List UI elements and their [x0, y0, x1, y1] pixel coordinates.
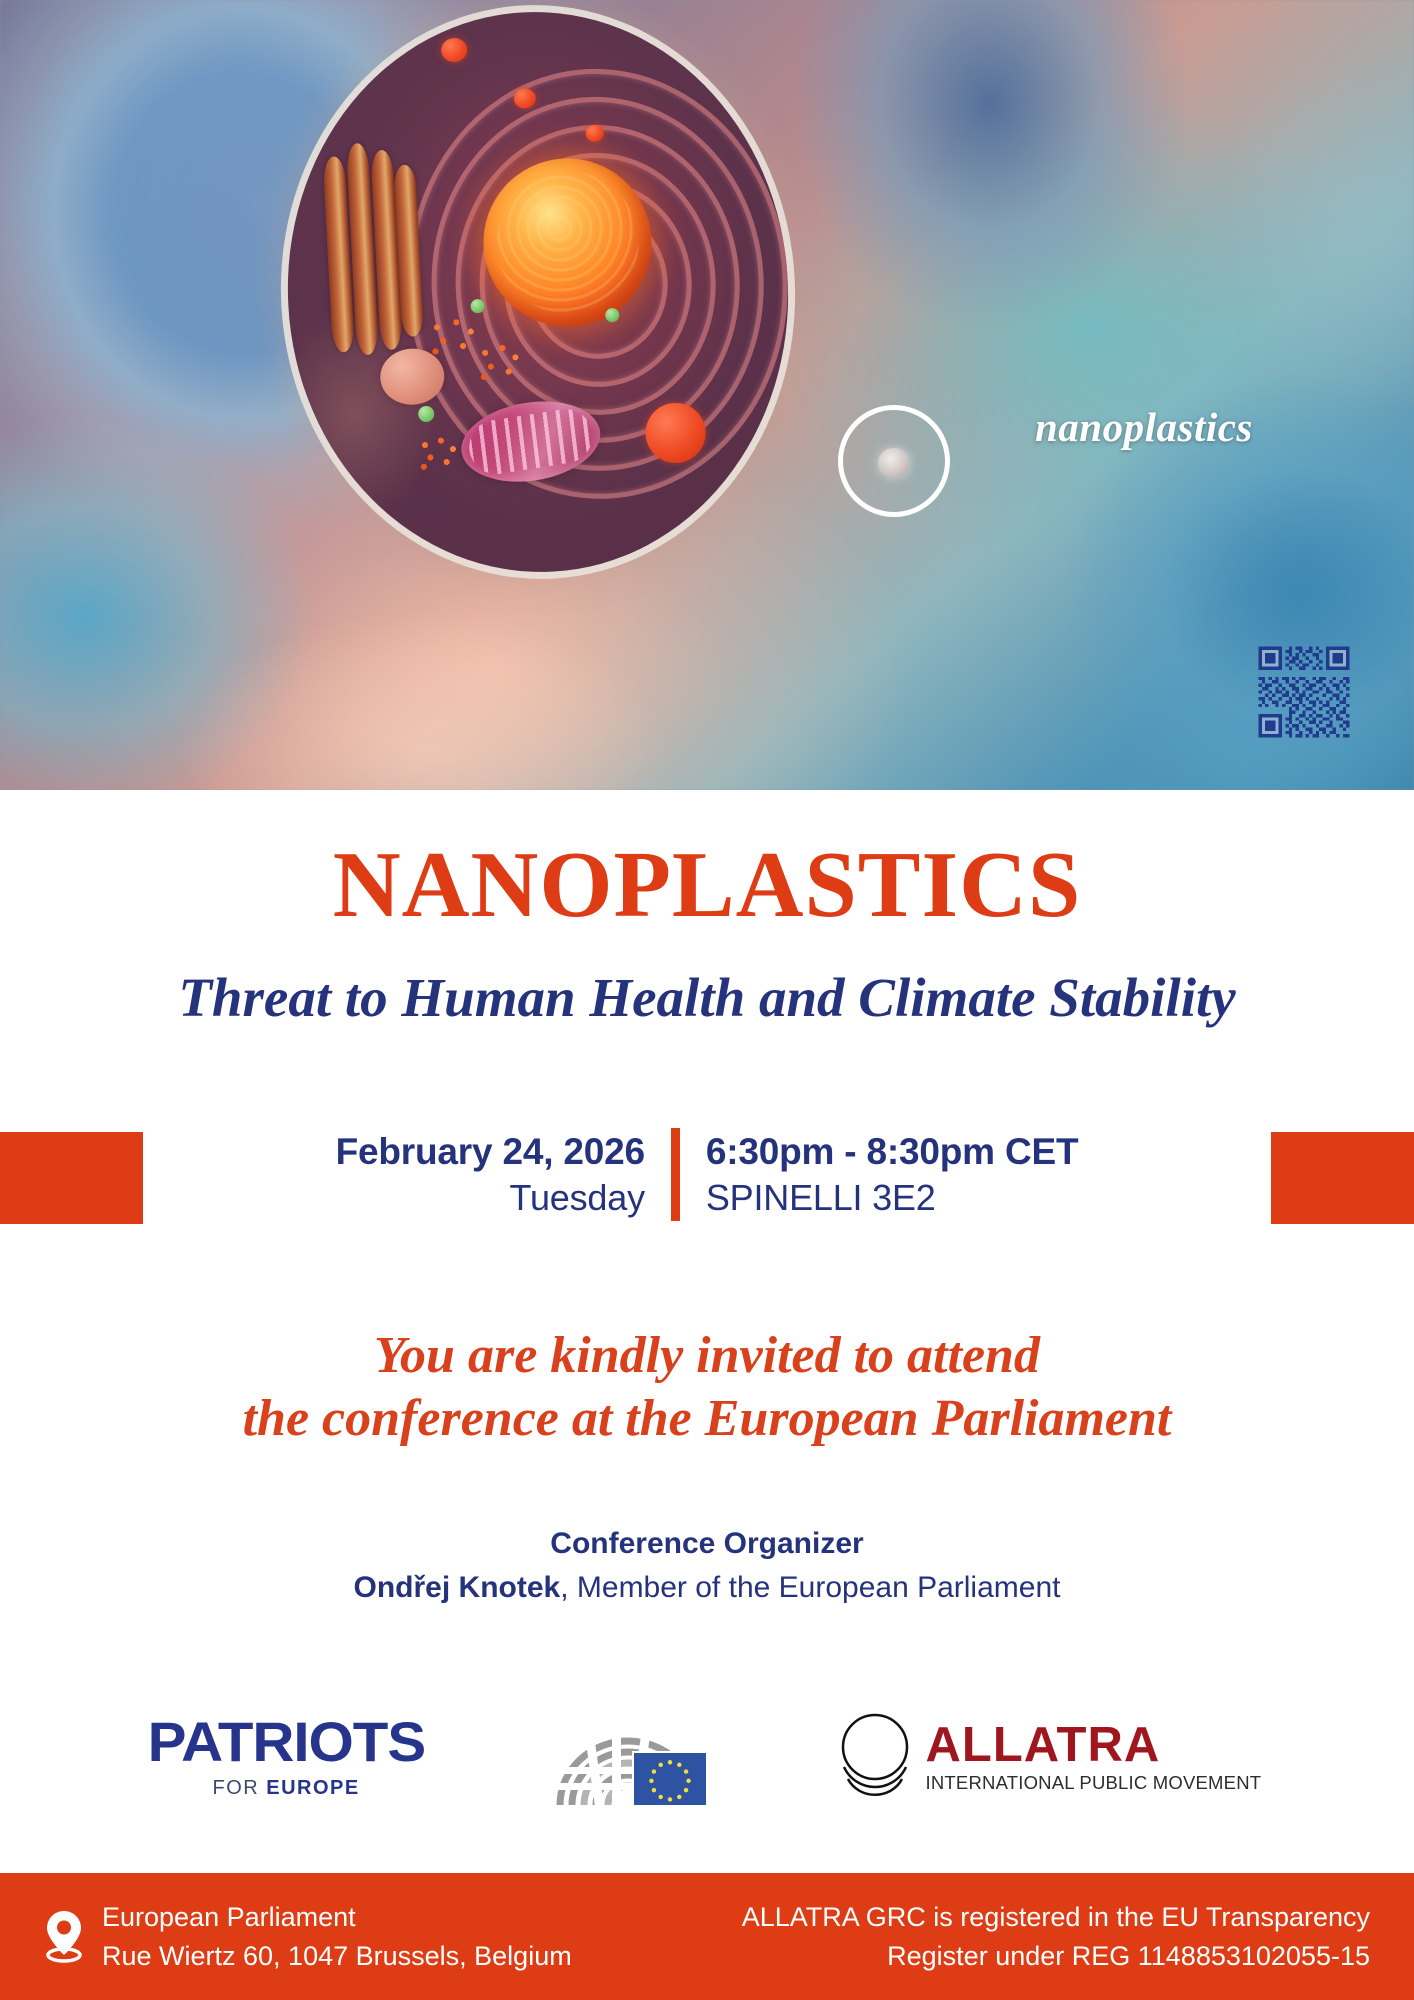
patriots-for-europe-logo: PATRIOTS FOR EUROPE [153, 1714, 420, 1800]
patriots-tagline-for: FOR [212, 1777, 266, 1799]
nanoplastics-annotation-label: nanoplastics [1035, 403, 1253, 451]
invitation-text: You are kindly invited to attend the con… [0, 1324, 1414, 1451]
qr-code[interactable] [1255, 643, 1353, 741]
allatra-wordmark: ALLATRA [926, 1721, 1262, 1770]
footer-venue: European Parliament [102, 1898, 572, 1936]
page-title: NANOPLASTICS [0, 838, 1414, 932]
allatra-logo: ALLATRA INTERNATIONAL PUBLIC MOVEMENT [838, 1709, 1262, 1805]
event-time: 6:30pm - 8:30pm CET [706, 1128, 1078, 1175]
ribosome-cluster-3 [415, 434, 463, 472]
organizer-block: Conference Organizer Ondřej Knotek, Memb… [0, 1522, 1414, 1609]
event-weekday: Tuesday [336, 1175, 645, 1221]
vesicle-red-small [441, 37, 468, 62]
conference-poster: nanoplastics [0, 0, 1414, 2000]
logo-row: PATRIOTS FOR EUROPE [0, 1692, 1414, 1822]
ribosome-cluster-2 [475, 341, 527, 384]
organizer-title: , Member of the European Parliament [560, 1571, 1060, 1604]
event-time-block: 6:30pm - 8:30pm CET SPINELLI 3E2 [680, 1128, 1078, 1221]
transparency-line-1: ALLATRA GRC is registered in the EU Tran… [742, 1898, 1370, 1936]
european-parliament-logo [550, 1701, 708, 1813]
golgi-apparatus [320, 138, 428, 373]
hero-image: nanoplastics [0, 0, 1414, 790]
page-subtitle: Threat to Human Health and Climate Stabi… [0, 968, 1414, 1029]
footer-address-text: European Parliament Rue Wiertz 60, 1047 … [102, 1898, 572, 1975]
organizer-role: Conference Organizer [0, 1522, 1414, 1566]
footer-transparency-register: ALLATRA GRC is registered in the EU Tran… [742, 1898, 1370, 1975]
invitation-line-1: You are kindly invited to attend [0, 1324, 1414, 1387]
organizer-name: Ondřej Knotek [354, 1571, 561, 1604]
footer-address-block: European Parliament Rue Wiertz 60, 1047 … [44, 1898, 572, 1975]
footer-street: Rue Wiertz 60, 1047 Brussels, Belgium [102, 1937, 572, 1975]
allatra-symbol-icon [838, 1709, 912, 1805]
patriots-wordmark: PATRIOTS [147, 1714, 424, 1770]
nanoplastic-highlight-ring [838, 405, 950, 517]
footer-bar: European Parliament Rue Wiertz 60, 1047 … [0, 1873, 1414, 2000]
transparency-line-2: Register under REG 1148853102055-15 [742, 1937, 1370, 1975]
allatra-tagline: INTERNATIONAL PUBLIC MOVEMENT [926, 1774, 1262, 1793]
animal-cell-illustration [274, 0, 803, 585]
invitation-line-2: the conference at the European Parliamen… [0, 1387, 1414, 1450]
eu-stars [634, 1753, 706, 1805]
patriots-tagline-europe: EUROPE [266, 1777, 359, 1799]
event-date: February 24, 2026 [336, 1128, 645, 1175]
event-date-block: February 24, 2026 Tuesday [336, 1128, 671, 1221]
event-divider [671, 1128, 680, 1221]
event-details: February 24, 2026 Tuesday 6:30pm - 8:30p… [0, 1128, 1414, 1221]
organizer-person: Ondřej Knotek, Member of the European Pa… [0, 1566, 1414, 1610]
location-pin-icon [44, 1909, 84, 1965]
event-room: SPINELLI 3E2 [706, 1175, 1078, 1221]
patriots-tagline: FOR EUROPE [153, 1777, 420, 1800]
allatra-wordmark-block: ALLATRA INTERNATIONAL PUBLIC MOVEMENT [926, 1721, 1262, 1793]
eu-flag-icon [632, 1751, 708, 1807]
